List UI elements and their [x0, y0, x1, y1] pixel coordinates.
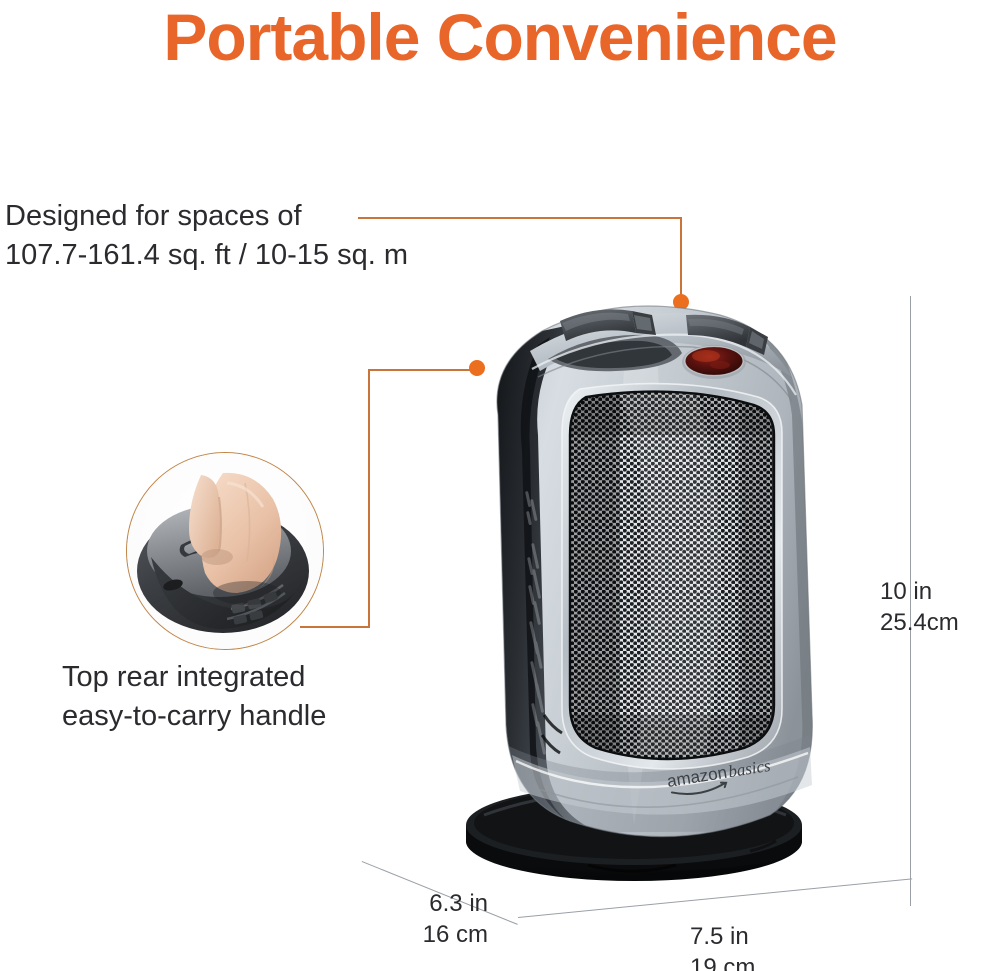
dimension-label-depth: 6.3 in 16 cm — [378, 889, 488, 950]
handle-leader-line-segment-1 — [300, 626, 370, 628]
handle-callout-line2: easy-to-carry handle — [62, 697, 326, 736]
page-title: Portable Convenience — [0, 2, 1000, 73]
dimension-depth-metric: 16 cm — [378, 920, 488, 951]
spaces-callout-line1: Designed for spaces of — [5, 197, 408, 236]
dimension-width-metric: 19 cm — [690, 953, 820, 971]
dimension-width-imperial: 7.5 in — [690, 922, 820, 953]
product-image-heater: amazon basics — [420, 285, 850, 895]
handle-callout-line1: Top rear integrated — [62, 658, 326, 697]
dimension-height-metric: 25.4cm — [880, 608, 990, 639]
power-indicator-light — [682, 345, 746, 379]
dimension-label-width: 7.5 in 19 cm — [690, 922, 820, 971]
spaces-callout-text: Designed for spaces of 107.7-161.4 sq. f… — [5, 197, 408, 276]
spaces-callout-line2: 107.7-161.4 sq. ft / 10-15 sq. m — [5, 236, 408, 275]
spaces-leader-line-horizontal — [358, 217, 682, 219]
handle-callout-text: Top rear integrated easy-to-carry handle — [62, 658, 326, 737]
dimension-label-height: 10 in 25.4cm — [880, 577, 990, 638]
infographic-page: Portable Convenience Designed for spaces… — [0, 0, 1000, 971]
handle-leader-line-vertical — [368, 369, 370, 628]
handle-photo-illustration — [127, 453, 323, 649]
dimension-height-imperial: 10 in — [880, 577, 990, 608]
heater-illustration: amazon basics — [420, 285, 850, 895]
dimension-depth-imperial: 6.3 in — [378, 889, 488, 920]
handle-detail-inset — [126, 452, 324, 650]
